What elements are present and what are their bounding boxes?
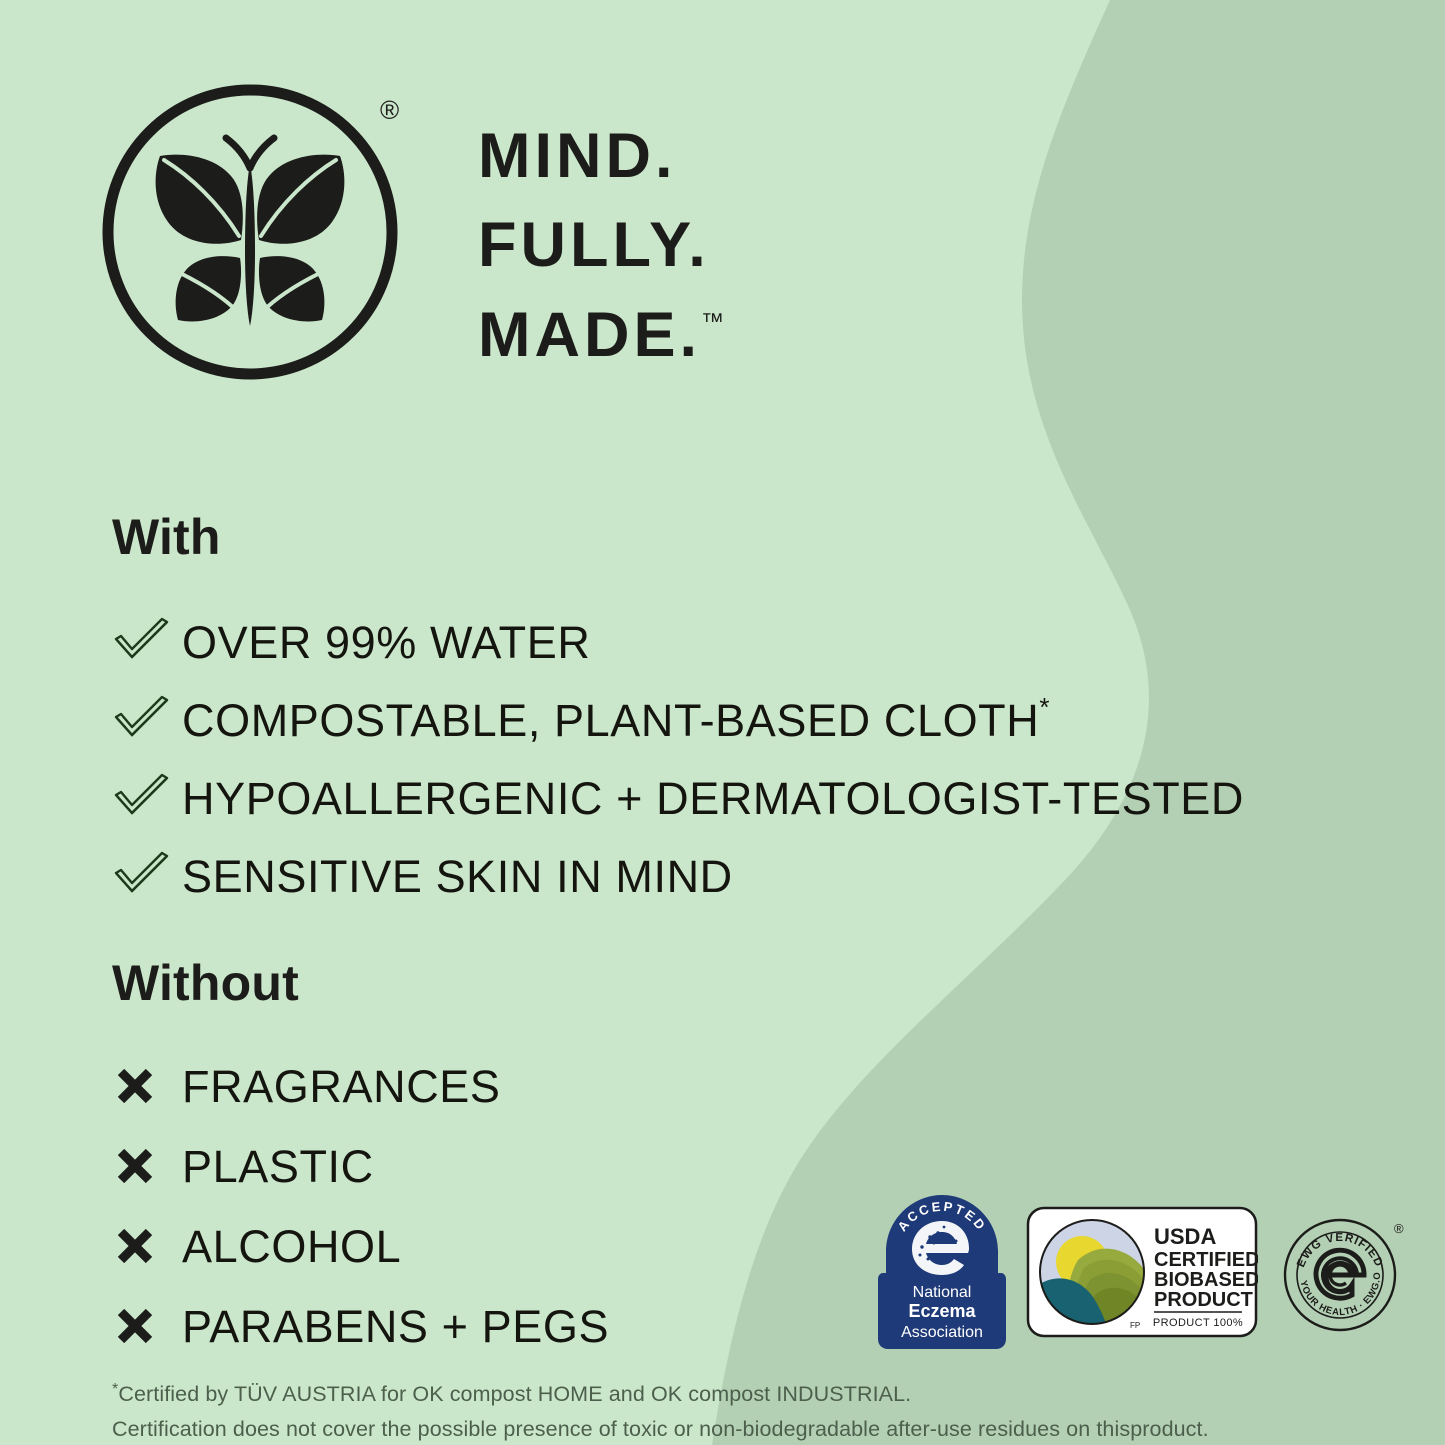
nea-line-3: Association bbox=[901, 1324, 983, 1341]
nea-line-1: National bbox=[913, 1284, 972, 1301]
ewg-verified-seal: EWG VERIFIED · FOR YOUR HEALTH · EWG.ORG… bbox=[1278, 1207, 1408, 1337]
x-icon bbox=[112, 1140, 182, 1192]
check-icon bbox=[112, 614, 182, 666]
list-item: FRAGRANCES bbox=[112, 1060, 609, 1112]
footnote-marker: * bbox=[1039, 692, 1050, 722]
footnote-line-1-text: Certified by TÜV AUSTRIA for OK compost … bbox=[118, 1382, 911, 1406]
brand-line-2: FULLY. bbox=[478, 201, 724, 290]
brand-wordmark: MIND. FULLY. MADE.™ bbox=[478, 112, 724, 380]
claim-label: OVER 99% WATER bbox=[182, 616, 590, 665]
brand-logo-block: ® MIND. FULLY. MADE.™ bbox=[98, 72, 858, 402]
footnote: *Certified by TÜV AUSTRIA for OK compost… bbox=[112, 1378, 1312, 1445]
x-icon bbox=[112, 1060, 182, 1112]
usda-subline: PRODUCT 100% bbox=[1153, 1317, 1243, 1329]
claim-label: FRAGRANCES bbox=[182, 1064, 501, 1109]
list-item: PARABENS + PEGS bbox=[112, 1300, 609, 1352]
claim-label: HYPOALLERGENIC + DERMATOLOGIST-TESTED bbox=[182, 772, 1244, 821]
list-item: COMPOSTABLE, PLANT-BASED CLOTH* bbox=[112, 692, 1244, 744]
footnote-line-2: Certification does not cover the possibl… bbox=[112, 1414, 1312, 1445]
usda-line-2: CERTIFIED bbox=[1154, 1249, 1258, 1271]
list-item: OVER 99% WATER bbox=[112, 614, 1244, 666]
usda-corner-mark: FP bbox=[1130, 1321, 1140, 1330]
list-item: ALCOHOL bbox=[112, 1220, 609, 1272]
x-icon bbox=[112, 1220, 182, 1272]
check-icon bbox=[112, 848, 182, 900]
without-claim-list: FRAGRANCES PLASTIC ALCOHOL bbox=[112, 1060, 609, 1352]
product-claims-infographic: ® MIND. FULLY. MADE.™ With OVER 99% WATE… bbox=[0, 0, 1445, 1445]
claim-label: PLASTIC bbox=[182, 1144, 374, 1189]
brand-line-3: MADE.™ bbox=[478, 291, 724, 380]
with-section: With OVER 99% WATER COMP bbox=[112, 512, 1244, 900]
footnote-line-1: *Certified by TÜV AUSTRIA for OK compost… bbox=[112, 1378, 1312, 1410]
usda-line-3: BIOBASED bbox=[1154, 1269, 1258, 1291]
brand-line-3-text: MADE. bbox=[478, 300, 701, 370]
usda-certified-biobased-product-seal: FP USDA CERTIFIED BIOBASED PRODUCT PRODU… bbox=[1026, 1206, 1258, 1338]
check-icon bbox=[112, 770, 182, 822]
claim-label: PARABENS + PEGS bbox=[182, 1304, 609, 1349]
with-claim-list: OVER 99% WATER COMPOSTABLE, PLANT-BASED … bbox=[112, 614, 1244, 900]
claim-label: SENSITIVE SKIN IN MIND bbox=[182, 850, 733, 899]
x-icon bbox=[112, 1300, 182, 1352]
registered-trademark-icon: ® bbox=[380, 97, 399, 123]
nea-line-2: Eczema bbox=[908, 1301, 976, 1321]
claim-label: COMPOSTABLE, PLANT-BASED CLOTH* bbox=[182, 694, 1050, 743]
usda-line-4: PRODUCT bbox=[1154, 1289, 1253, 1311]
list-item: PLASTIC bbox=[112, 1140, 609, 1192]
claim-label: ALCOHOL bbox=[182, 1224, 401, 1269]
without-section: Without FRAGRANCES PLASTIC bbox=[112, 958, 609, 1380]
brand-line-1: MIND. bbox=[478, 112, 724, 201]
butterfly-in-circle-logo: ® bbox=[98, 72, 418, 392]
certification-badges: ACCEPTED National Eczema Association bbox=[878, 1192, 1418, 1352]
without-heading: Without bbox=[112, 958, 609, 1008]
trademark-icon: ™ bbox=[701, 308, 724, 334]
usda-line-1: USDA bbox=[1154, 1224, 1216, 1249]
check-icon bbox=[112, 692, 182, 744]
list-item: HYPOALLERGENIC + DERMATOLOGIST-TESTED bbox=[112, 770, 1244, 822]
ewg-registered-icon: ® bbox=[1394, 1221, 1404, 1236]
national-eczema-association-accepted-seal: ACCEPTED National Eczema Association bbox=[878, 1193, 1006, 1351]
with-heading: With bbox=[112, 512, 1244, 562]
list-item: SENSITIVE SKIN IN MIND bbox=[112, 848, 1244, 900]
